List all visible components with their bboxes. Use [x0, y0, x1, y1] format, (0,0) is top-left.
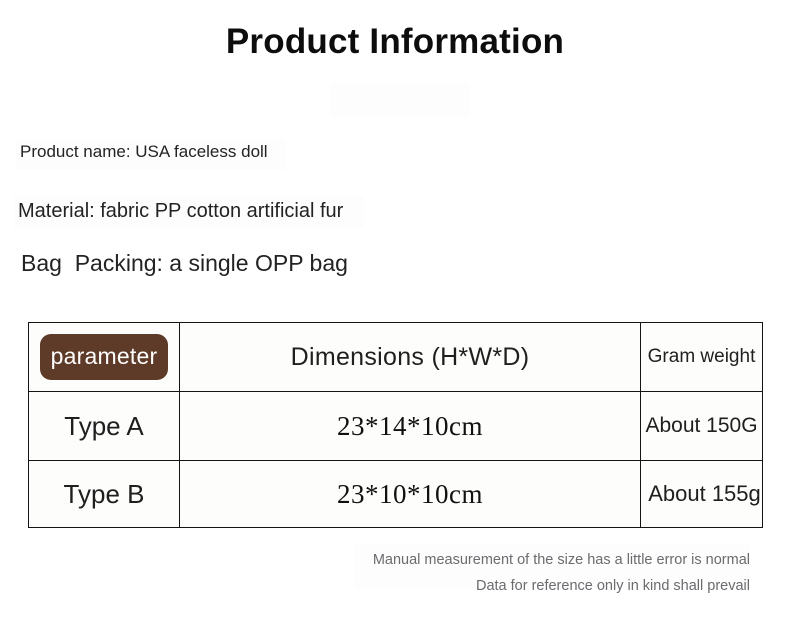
- cell-dimensions-b: 23*10*10cm: [180, 461, 641, 528]
- footnote-measurement: Manual measurement of the size has a lit…: [0, 547, 750, 573]
- spec-material: Material: fabric PP cotton artificial fu…: [18, 200, 343, 223]
- gram-weight-value: About 155g: [648, 481, 761, 506]
- header-label-dimensions: Dimensions (H*W*D): [291, 343, 530, 371]
- cell-type-a: Type A: [29, 392, 180, 461]
- gram-weight-value: About 150G: [645, 414, 757, 437]
- page-title: Product Information: [0, 22, 790, 62]
- dimensions-value: 23*10*10cm: [337, 479, 483, 509]
- cell-type-b: Type B: [29, 461, 180, 528]
- header-label-gram-weight: Gram weight: [648, 346, 756, 367]
- type-label: Type A: [64, 411, 144, 441]
- watermark-blotch-title: [330, 83, 470, 117]
- specification-table: parameter Dimensions (H*W*D) Gram weight…: [28, 322, 763, 528]
- footnotes: Manual measurement of the size has a lit…: [0, 547, 750, 599]
- header-cell-gram-weight: Gram weight: [641, 323, 763, 392]
- cell-dimensions-a: 23*14*10cm: [180, 392, 641, 461]
- table-row: Type A 23*14*10cm About 150G: [29, 392, 763, 461]
- cell-gram-weight-b: About 155g: [641, 461, 763, 528]
- type-label: Type B: [64, 479, 145, 509]
- parameter-badge: parameter: [40, 334, 169, 380]
- spec-packing: Bag Packing: a single OPP bag: [21, 250, 348, 277]
- table-header-row: parameter Dimensions (H*W*D) Gram weight: [29, 323, 763, 392]
- dimensions-value: 23*14*10cm: [337, 411, 483, 441]
- spec-product-name: Product name: USA faceless doll: [20, 142, 268, 162]
- footnote-reference: Data for reference only in kind shall pr…: [0, 573, 750, 599]
- header-cell-parameter: parameter: [29, 323, 180, 392]
- cell-gram-weight-a: About 150G: [641, 392, 763, 461]
- table-row: Type B 23*10*10cm About 155g: [29, 461, 763, 528]
- header-cell-dimensions: Dimensions (H*W*D): [180, 323, 641, 392]
